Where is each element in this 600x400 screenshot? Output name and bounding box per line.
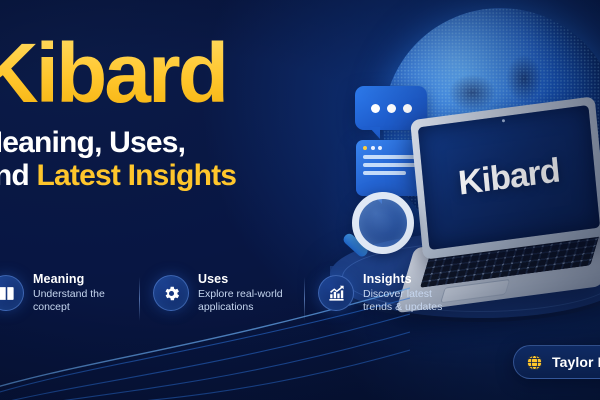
- headline-block: Kibard Meaning, Uses, and Latest Insight…: [0, 34, 378, 193]
- gear-icon: [153, 275, 189, 311]
- feature-description: Discover latest trends & updates: [363, 288, 455, 314]
- hero-banner: Kibard Kibard Meaning, Uses, and Latest …: [0, 0, 600, 400]
- feature-description: Explore real-world applications: [198, 288, 290, 314]
- subtitle-line-2-prefix: and: [0, 159, 36, 192]
- book-icon: [0, 275, 24, 311]
- subtitle-line-2-accent: Latest Insights: [36, 159, 236, 192]
- feature-item-meaning[interactable]: Meaning Understand the concept: [0, 272, 139, 314]
- subtitle-line-1: Meaning, Uses,: [0, 126, 185, 159]
- chart-growth-icon: [318, 275, 354, 311]
- feature-title: Meaning: [33, 272, 125, 286]
- globe-icon: [526, 354, 543, 371]
- page-subtitle: Meaning, Uses, and Latest Insights: [0, 126, 378, 193]
- feature-description: Understand the concept: [33, 288, 125, 314]
- author-name: Taylor R: [552, 354, 600, 370]
- page-title: Kibard: [0, 34, 378, 114]
- feature-title: Insights: [363, 272, 455, 286]
- feature-item-insights[interactable]: Insights Discover latest trends & update…: [304, 272, 469, 314]
- feature-item-uses[interactable]: Uses Explore real-world applications: [139, 272, 304, 314]
- feature-list: Meaning Understand the concept Uses Expl…: [0, 272, 469, 314]
- author-badge[interactable]: Taylor R: [513, 345, 600, 379]
- feature-title: Uses: [198, 272, 290, 286]
